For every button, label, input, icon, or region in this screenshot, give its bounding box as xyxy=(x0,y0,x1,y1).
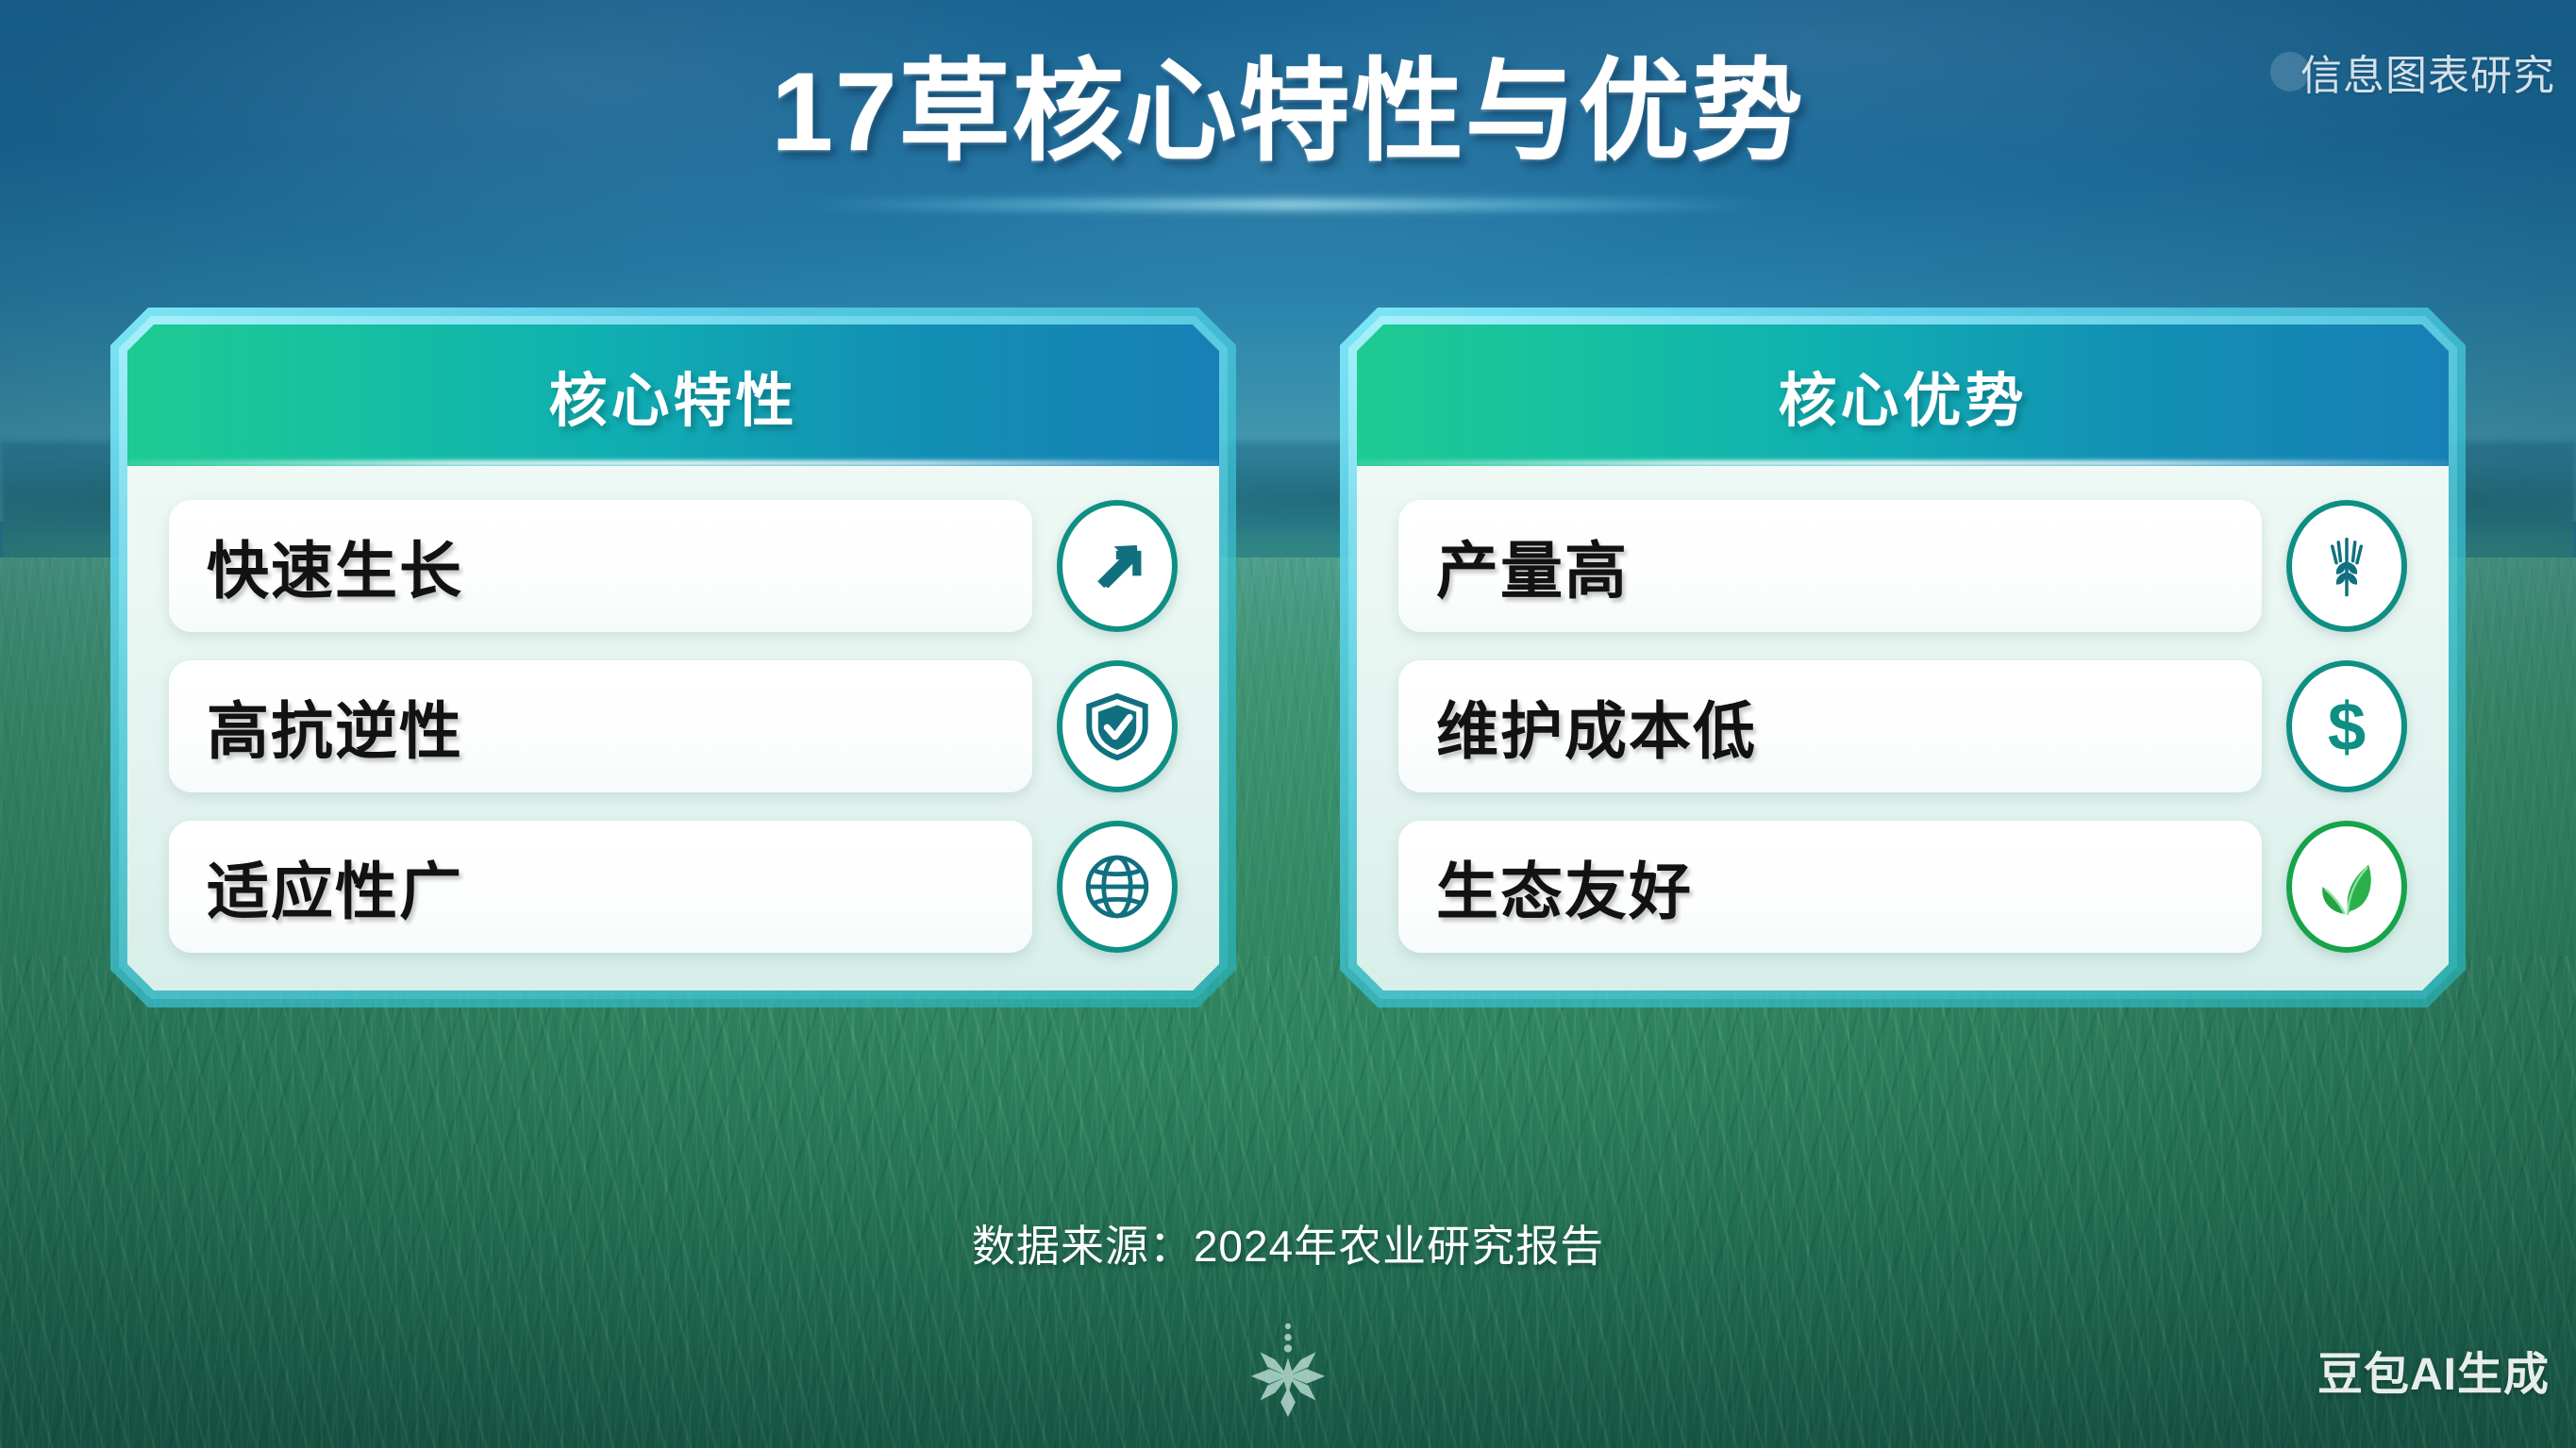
feature-label: 快速生长 xyxy=(207,521,463,611)
watermark-bottom: 豆包AI生成 xyxy=(2317,1337,2550,1403)
card-core-advantages: 核心优势 产量高 xyxy=(1340,308,2466,1007)
card-header-title: 核心优势 xyxy=(1778,353,2027,438)
globe-icon xyxy=(1057,821,1178,953)
dollar-sign-icon: $ xyxy=(2286,660,2407,792)
card-bevel: 核心优势 产量高 xyxy=(1348,316,2457,999)
card-surface: 核心优势 产量高 xyxy=(1357,325,2449,990)
advantage-label: 生态友好 xyxy=(1436,841,1693,932)
card-header: 核心优势 xyxy=(1357,325,2449,466)
card-surface: 核心特性 快速生长 xyxy=(127,325,1219,990)
arrow-up-right-icon xyxy=(1057,500,1178,632)
card-core-features: 核心特性 快速生长 xyxy=(110,308,1236,1007)
watermark-top: 信息图表研究 xyxy=(2270,42,2555,102)
card-grid: 核心特性 快速生长 xyxy=(0,308,2576,1007)
title-underglow xyxy=(807,200,1769,209)
list-item[interactable]: 维护成本低 $ xyxy=(1398,660,2407,792)
data-source-note: 数据来源：2024年农业研究报告 xyxy=(0,1212,2576,1274)
list-item[interactable]: 生态友好 xyxy=(1398,821,2407,953)
page-title: 17草核心特性与优势 xyxy=(0,45,2576,181)
feature-pill[interactable]: 适应性广 xyxy=(169,821,1032,953)
card-header: 核心特性 xyxy=(127,325,1219,466)
card-item-list: 快速生长 高抗逆性 xyxy=(127,466,1219,990)
advantage-label: 维护成本低 xyxy=(1436,681,1757,772)
sparkle-ornament-icon xyxy=(1231,1321,1345,1424)
feature-pill[interactable]: 高抗逆性 xyxy=(169,660,1032,792)
leaf-icon xyxy=(2286,821,2407,953)
watermark-top-label: 信息图表研究 xyxy=(2300,42,2555,102)
advantage-pill[interactable]: 产量高 xyxy=(1398,500,2262,632)
shield-check-icon xyxy=(1057,660,1178,792)
feature-label: 适应性广 xyxy=(207,841,463,932)
list-item[interactable]: 高抗逆性 xyxy=(169,660,1178,792)
advantage-pill[interactable]: 维护成本低 xyxy=(1398,660,2262,792)
card-bevel: 核心特性 快速生长 xyxy=(119,316,1228,999)
wheat-icon xyxy=(2286,500,2407,632)
feature-label: 高抗逆性 xyxy=(207,681,463,772)
list-item[interactable]: 适应性广 xyxy=(169,821,1178,953)
feature-pill[interactable]: 快速生长 xyxy=(169,500,1032,632)
infographic-canvas: 17草核心特性与优势 信息图表研究 核心特性 快速生长 xyxy=(0,0,2576,1448)
advantage-label: 产量高 xyxy=(1436,521,1629,611)
svg-text:$: $ xyxy=(2328,689,2366,764)
advantage-pill[interactable]: 生态友好 xyxy=(1398,821,2262,953)
list-item[interactable]: 快速生长 xyxy=(169,500,1178,632)
card-header-title: 核心特性 xyxy=(548,353,797,438)
list-item[interactable]: 产量高 xyxy=(1398,500,2407,632)
card-item-list: 产量高 xyxy=(1357,466,2449,990)
